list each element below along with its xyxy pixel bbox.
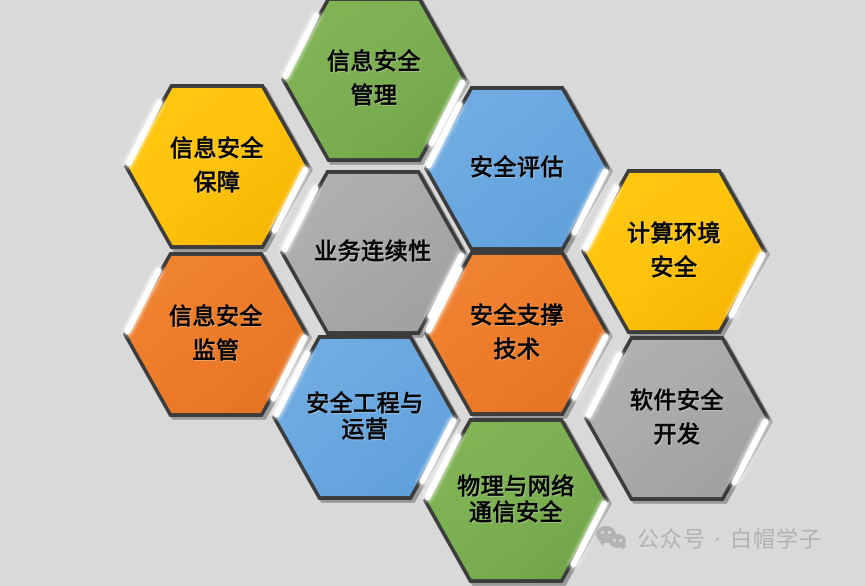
hexagon-software-security-development[interactable]: 软件安全 开发 (584, 336, 770, 501)
wechat-icon (596, 525, 628, 551)
hexagon-physical-and-network-communication-security[interactable]: 物理与网络 通信安全 (423, 418, 609, 583)
diagram-canvas: 信息安全 管理信息安全 保障安全评估业务连续性计算环境 安全信息安全 监管安全支… (0, 0, 865, 586)
watermark-text: 公众号 · 白帽学子 (637, 522, 822, 554)
watermark: 公众号 · 白帽学子 (596, 522, 822, 554)
